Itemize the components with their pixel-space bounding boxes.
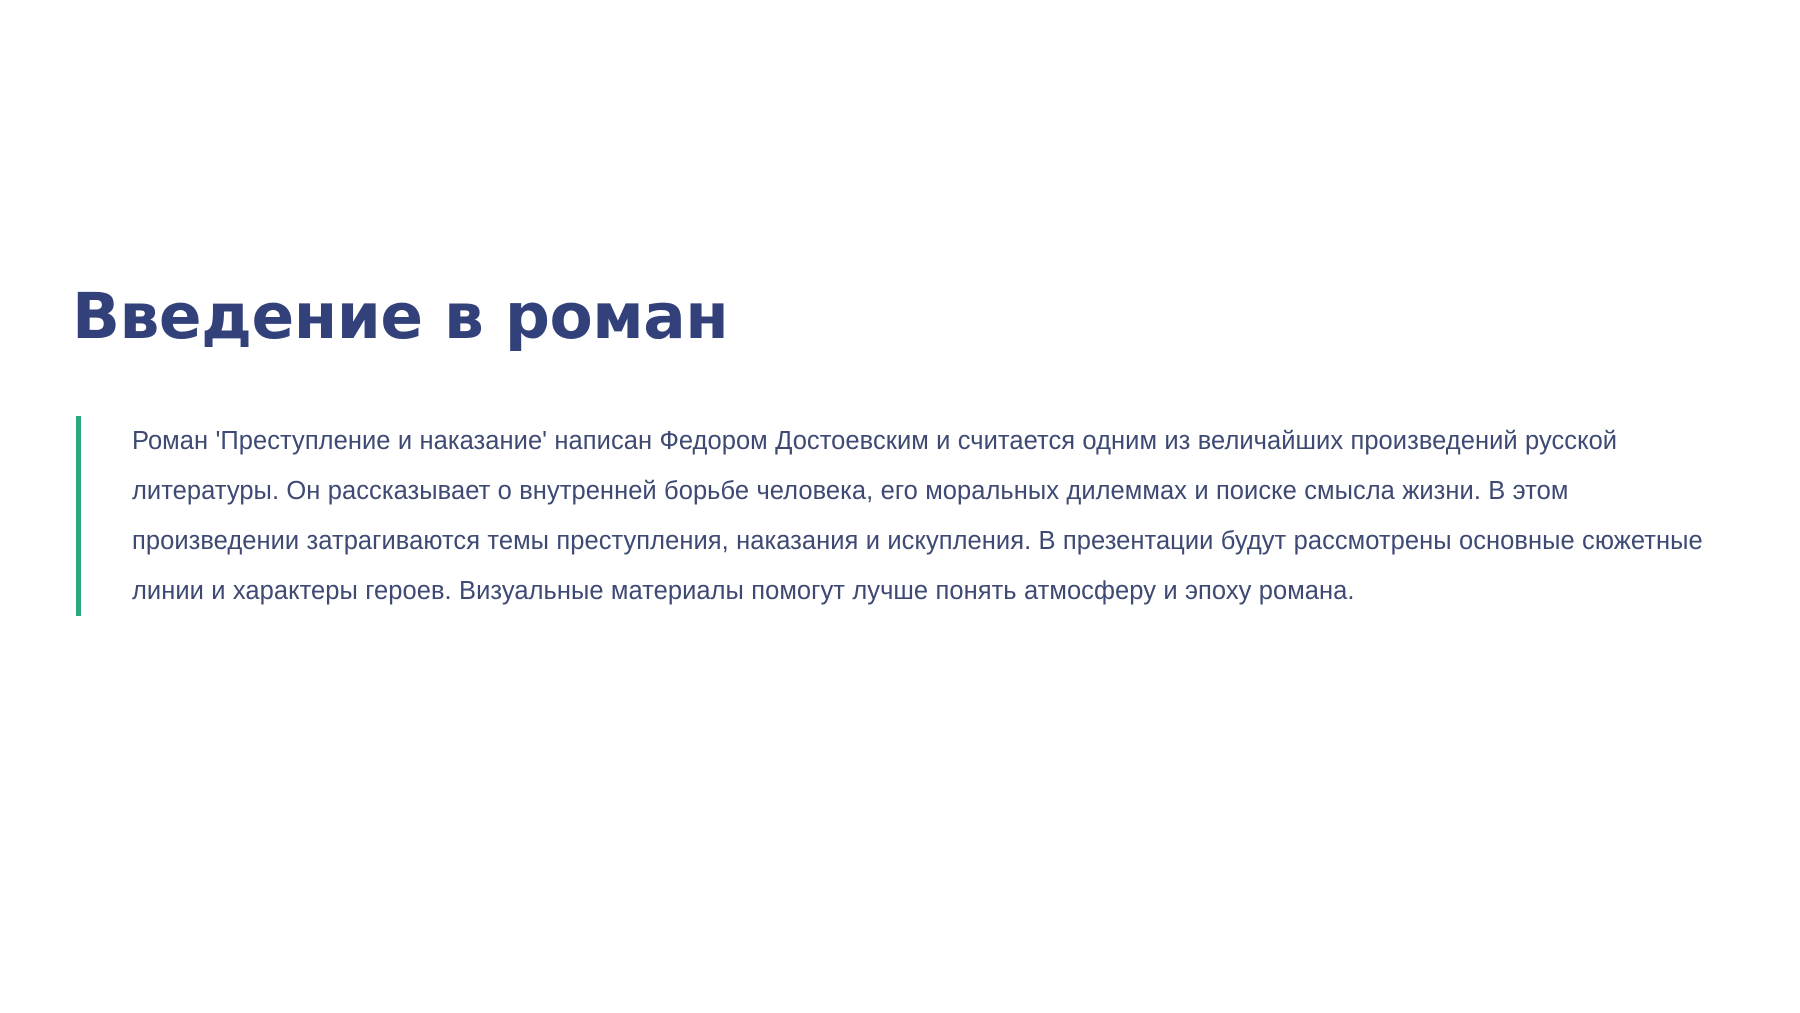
body-callout-block: Роман 'Преступление и наказание' написан… [76,416,1720,616]
body-paragraph: Роман 'Преступление и наказание' написан… [81,416,1720,616]
presentation-slide: Введение в роман Роман 'Преступление и н… [0,0,1800,1013]
page-title: Введение в роман [72,283,728,351]
